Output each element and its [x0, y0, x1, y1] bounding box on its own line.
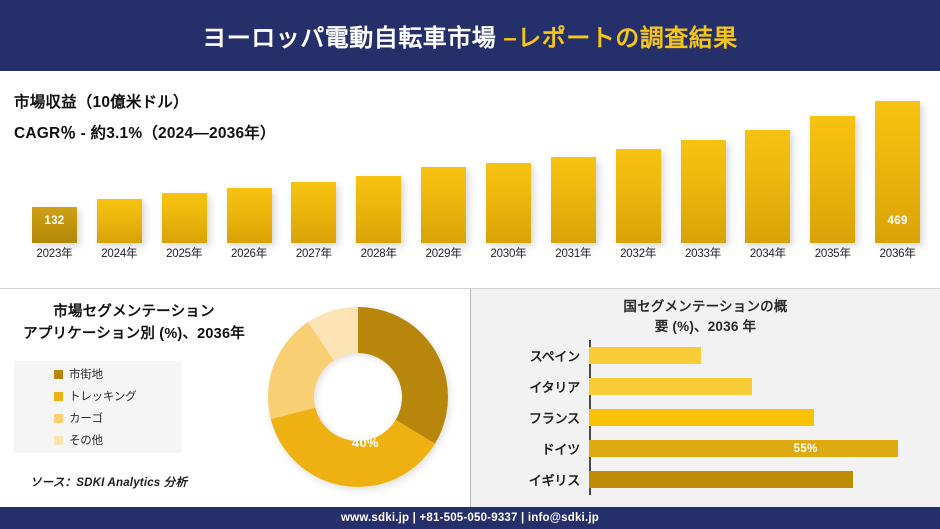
revenue-bar-slot — [671, 95, 736, 243]
country-bar-row: ドイツ55% — [589, 440, 926, 457]
header-banner: ヨーロッパ電動自転車市場 –レポートの調査結果 — [0, 0, 940, 71]
revenue-x-tick-label: 2024年 — [87, 245, 152, 267]
legend-color-swatch-icon — [54, 370, 63, 379]
revenue-x-tick-label: 2033年 — [671, 245, 736, 267]
segmentation-legend-label: 市街地 — [69, 366, 103, 382]
revenue-x-tick-label: 2032年 — [606, 245, 671, 267]
legend-color-swatch-icon — [54, 392, 63, 401]
page-title: ヨーロッパ電動自転車市場 –レポートの調査結果 — [202, 18, 738, 53]
revenue-x-tick-label: 2029年 — [411, 245, 476, 267]
page-title-primary: ヨーロッパ電動自転車市場 — [202, 25, 503, 52]
revenue-bar-slot — [87, 95, 152, 243]
revenue-bars-plot: 132469 2023年2024年2025年2026年2027年2028年202… — [22, 95, 930, 288]
segmentation-legend-label: その他 — [69, 432, 103, 448]
revenue-bar[interactable] — [227, 188, 272, 243]
footer-bar: www.sdki.jp | +81-505-050-9337 | info@sd… — [0, 507, 940, 529]
revenue-bar-slot — [281, 95, 346, 243]
revenue-x-tick-label: 2031年 — [541, 245, 606, 267]
country-name-label: スペイン — [530, 346, 580, 365]
source-note: ソース：SDKI Analytics 分析 — [30, 474, 187, 490]
revenue-bar-slot — [152, 95, 217, 243]
segmentation-legend-label: トレッキング — [69, 388, 136, 404]
segmentation-title: 市場セグメンテーション アプリケーション別 (%)、2036年 — [0, 301, 268, 345]
revenue-x-tick-label: 2030年 — [476, 245, 541, 267]
revenue-bar[interactable] — [681, 140, 726, 243]
country-bar[interactable] — [589, 471, 853, 488]
country-bar-row: フランス — [589, 409, 926, 426]
revenue-bar[interactable] — [810, 116, 855, 243]
application-segmentation-section: 市場セグメンテーション アプリケーション別 (%)、2036年 市街地トレッキン… — [0, 289, 470, 507]
segmentation-legend-item: トレッキング — [54, 388, 182, 404]
country-chart-title-line1: 国セグメンテーションの概 — [471, 297, 940, 317]
revenue-x-tick-label: 2027年 — [281, 245, 346, 267]
segmentation-legend-item: 市街地 — [54, 366, 182, 382]
revenue-bar[interactable] — [356, 176, 401, 243]
revenue-bar-slot — [541, 95, 606, 243]
segmentation-title-line1: 市場セグメンテーション — [0, 301, 268, 323]
country-chart-title-line2: 要 (%)、2036 年 — [471, 317, 940, 337]
segmentation-legend-item: カーゴ — [54, 410, 182, 426]
revenue-chart-section: 市場収益（10億米ドル） CAGR％ - 約3.1%（2024―2036年） 1… — [0, 71, 940, 288]
country-chart-title: 国セグメンテーションの概 要 (%)、2036 年 — [471, 297, 940, 337]
segmentation-legend-item: その他 — [54, 432, 182, 448]
country-name-label: フランス — [529, 408, 580, 427]
country-name-label: イタリア — [529, 377, 580, 396]
country-bar-row: イタリア — [589, 378, 926, 395]
revenue-bar[interactable] — [291, 182, 336, 243]
revenue-x-tick-label: 2026年 — [217, 245, 282, 267]
revenue-bars-row: 132469 — [22, 95, 930, 243]
country-name-label: ドイツ — [542, 439, 580, 458]
revenue-bar[interactable] — [551, 157, 596, 243]
page-title-accent: –レポートの調査結果 — [503, 25, 737, 52]
revenue-bar-slot — [346, 95, 411, 243]
revenue-bar[interactable] — [97, 199, 142, 243]
country-name-label: イギリス — [529, 470, 580, 489]
segmentation-legend: 市街地トレッキングカーゴその他 — [14, 361, 182, 453]
footer-contact-text: www.sdki.jp | +81-505-050-9337 | info@sd… — [341, 512, 599, 524]
revenue-x-tick-label: 2034年 — [735, 245, 800, 267]
country-bar-value-label: 55% — [794, 443, 818, 455]
revenue-bar[interactable] — [421, 167, 466, 243]
revenue-bar[interactable]: 132 — [32, 207, 77, 243]
infographic-page: ヨーロッパ電動自転車市場 –レポートの調査結果 市場収益（10億米ドル） CAG… — [0, 0, 940, 529]
donut-center-hole — [314, 353, 402, 441]
revenue-bar-slot — [800, 95, 865, 243]
country-bars-plot: スペインイタリアフランスドイツ55%イギリス — [589, 340, 926, 495]
segmentation-legend-label: カーゴ — [69, 410, 103, 426]
revenue-bar-slot — [476, 95, 541, 243]
revenue-x-tick-label: 2035年 — [800, 245, 865, 267]
revenue-x-axis-labels: 2023年2024年2025年2026年2027年2028年2029年2030年… — [22, 245, 930, 267]
legend-color-swatch-icon — [54, 414, 63, 423]
revenue-bar[interactable] — [486, 163, 531, 243]
donut-slice-label: 40% — [352, 435, 379, 450]
revenue-bar-value-label: 469 — [875, 215, 920, 227]
revenue-bar-slot — [606, 95, 671, 243]
country-segmentation-section: 国セグメンテーションの概 要 (%)、2036 年 スペインイタリアフランスドイ… — [471, 289, 940, 507]
revenue-bar-slot: 132 — [22, 95, 87, 243]
revenue-bar-slot: 469 — [865, 95, 930, 243]
revenue-bar-slot — [217, 95, 282, 243]
country-bar-row: スペイン — [589, 347, 926, 364]
country-bar[interactable]: 55% — [589, 440, 898, 457]
revenue-bar[interactable]: 469 — [875, 101, 920, 243]
country-bars-rows: スペインイタリアフランスドイツ55%イギリス — [589, 340, 926, 495]
country-bar[interactable] — [589, 378, 752, 395]
revenue-bar[interactable] — [162, 193, 207, 243]
revenue-bar[interactable] — [745, 130, 790, 243]
segmentation-title-line2: アプリケーション別 (%)、2036年 — [0, 323, 268, 345]
revenue-bar-value-label: 132 — [32, 215, 77, 227]
application-donut-chart: 40% — [268, 307, 448, 487]
legend-color-swatch-icon — [54, 436, 63, 445]
revenue-bar-slot — [735, 95, 800, 243]
country-bar[interactable] — [589, 409, 814, 426]
revenue-x-tick-label: 2025年 — [152, 245, 217, 267]
revenue-x-tick-label: 2036年 — [865, 245, 930, 267]
revenue-bar[interactable] — [616, 149, 661, 243]
country-bar[interactable] — [589, 347, 701, 364]
revenue-x-tick-label: 2028年 — [346, 245, 411, 267]
revenue-x-tick-label: 2023年 — [22, 245, 87, 267]
country-bar-row: イギリス — [589, 471, 926, 488]
revenue-bar-slot — [411, 95, 476, 243]
